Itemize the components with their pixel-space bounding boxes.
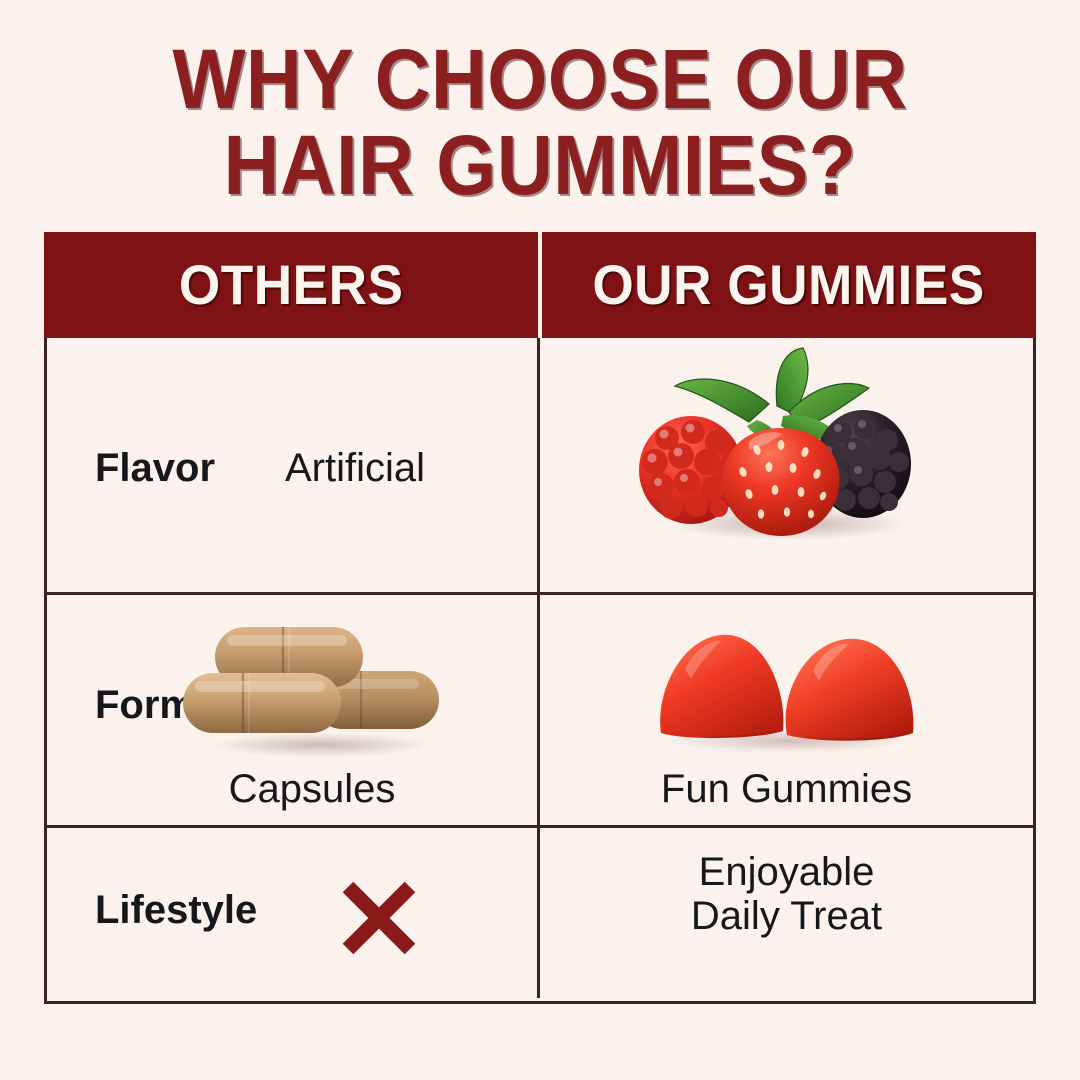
- table-body: Flavor Artificial: [44, 338, 1036, 1004]
- row-form-others-cell: Form: [47, 595, 540, 825]
- page-title-line-2: HAIR GUMMIES?: [43, 122, 1037, 208]
- row-flavor-others-value: Artificial: [285, 446, 425, 490]
- row-form-others-caption: Capsules: [47, 767, 537, 811]
- gummies-icon: [637, 609, 937, 759]
- row-flavor-ours-cell: Mix Berry Natural Taste: [540, 338, 1033, 592]
- row-flavor-others-cell: Flavor Artificial: [47, 338, 540, 592]
- table-header-row: OTHERS OUR GUMMIES: [44, 232, 1036, 338]
- table-header-cell-ours: OUR GUMMIES: [542, 232, 1036, 338]
- page-title-line-1: WHY CHOOSE OUR: [43, 36, 1037, 122]
- row-form-ours-value: Fun Gummies: [661, 767, 912, 811]
- row-lifestyle-others-cell: Lifestyle: [47, 828, 540, 998]
- row-lifestyle-ours-cell: Enjoyable Daily Treat: [540, 828, 1033, 998]
- table-header-cell-others: OTHERS: [44, 232, 538, 338]
- table-row: Flavor Artificial: [47, 338, 1033, 595]
- table-header-label-others: OTHERS: [179, 257, 404, 313]
- page-title: WHY CHOOSE OUR HAIR GUMMIES?: [0, 36, 1080, 208]
- row-form-ours-caption: Fun Gummies: [540, 767, 1033, 811]
- row-form-others-value: Capsules: [229, 767, 396, 811]
- row-label-lifestyle: Lifestyle: [95, 888, 257, 932]
- row-label-flavor: Flavor: [95, 446, 215, 490]
- comparison-table: OTHERS OUR GUMMIES Flavor Artificial: [44, 232, 1036, 1004]
- table-header-label-ours: OUR GUMMIES: [593, 257, 985, 313]
- cross-x-icon: [339, 878, 419, 958]
- poster-canvas: WHY CHOOSE OUR HAIR GUMMIES? OTHERS OUR …: [0, 0, 1080, 1080]
- row-lifestyle-ours-value-line-2: Daily Treat: [540, 894, 1033, 938]
- capsules-icon: [171, 609, 461, 759]
- row-form-ours-cell: Fun Gummies: [540, 595, 1033, 825]
- table-row: Lifestyle: [47, 828, 1033, 998]
- mixed-berries-icon: [617, 346, 957, 542]
- row-lifestyle-ours-caption: Enjoyable Daily Treat: [540, 850, 1033, 938]
- row-lifestyle-ours-value-line-1: Enjoyable: [540, 850, 1033, 894]
- table-row: Form: [47, 595, 1033, 828]
